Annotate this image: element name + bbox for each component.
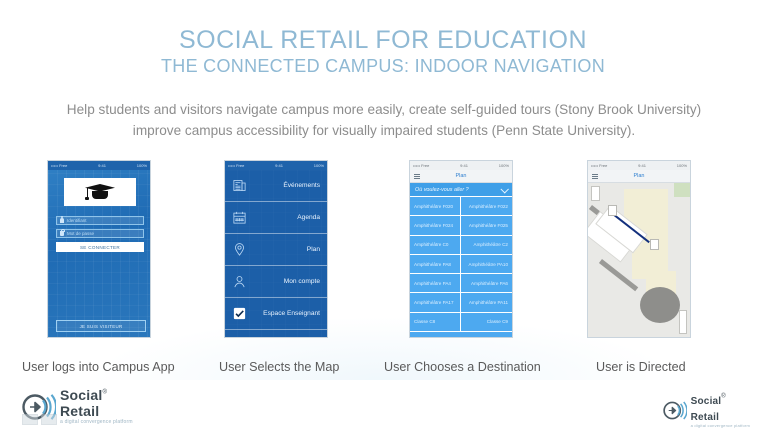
username-field[interactable]: Identifiant	[56, 216, 144, 225]
logo-line2: Retail	[691, 412, 719, 423]
destination-cell[interactable]: Amphithéâtre PA4	[410, 274, 461, 293]
status-carrier: ••••• Free	[228, 163, 244, 168]
menu-item-label: Agenda	[297, 214, 320, 221]
logo-tagline: a digital convergence platform	[691, 424, 750, 428]
status-time: 9:41	[98, 163, 106, 168]
password-field[interactable]: Mot de passe	[56, 229, 144, 238]
destination-cell[interactable]: Classe C8	[410, 313, 461, 332]
menu-item-evenements[interactable]: Événements	[225, 170, 327, 202]
status-carrier: ••••• Free	[591, 163, 607, 168]
status-carrier: ••••• Free	[413, 163, 429, 168]
chevron-down-icon	[500, 185, 508, 193]
status-time: 9:41	[460, 163, 468, 168]
nav-title: Plan	[633, 173, 644, 179]
logo-line1: Social	[691, 396, 722, 407]
page-title: SOCIAL RETAIL FOR EDUCATION	[0, 26, 766, 55]
destination-cell[interactable]: Amphithéâtre PA17	[410, 293, 461, 312]
phone-mockup-menu: ••••• Free 9:41 100% Événements	[224, 160, 328, 338]
menu-item-label: Espace Enseignant	[263, 310, 320, 317]
destination-screen: Où voulez-vous aller ? Amphithéâtre F020…	[410, 183, 512, 338]
lock-icon	[60, 231, 64, 236]
login-button[interactable]: SE CONNECTER	[56, 242, 144, 252]
destination-grid: Amphithéâtre F020 Amphithéâtre F022 Amph…	[410, 197, 512, 332]
campus-map[interactable]	[588, 183, 690, 338]
user-icon	[60, 218, 64, 223]
logo-registered: ®	[102, 390, 106, 396]
nav-bar: Plan	[588, 170, 690, 183]
logo-tagline: a digital convergence platform	[60, 420, 133, 425]
destination-cell[interactable]: Amphithéâtre PA11	[461, 293, 512, 312]
menu-item-plan[interactable]: Plan	[225, 234, 327, 266]
status-bar: ••••• Free 9:41 100%	[410, 161, 512, 170]
caption-destination: User Chooses a Destination	[384, 360, 541, 374]
caption-login: User logs into Campus App	[22, 360, 175, 374]
status-time: 9:41	[275, 163, 283, 168]
dropdown-label: Où voulez-vous aller ?	[415, 187, 469, 193]
map-screen: Démarrer la navigation	[588, 183, 690, 338]
destination-cell[interactable]: Amphithéâtre C2	[461, 236, 512, 255]
footer-decoration	[22, 414, 57, 425]
logo-wordmark: Social® Retail a digital convergence pla…	[60, 388, 133, 425]
map-marker-start[interactable]	[608, 205, 617, 216]
calendar-icon	[232, 210, 247, 225]
destination-cell[interactable]: Amphithéâtre F024	[410, 216, 461, 235]
logo-registered: ®	[721, 394, 725, 400]
menu-item-agenda[interactable]: Agenda	[225, 202, 327, 234]
map-pin-icon	[232, 242, 247, 257]
destination-cell[interactable]: Amphithéâtre F020	[410, 197, 461, 216]
status-battery: 100%	[677, 163, 687, 168]
destination-cell[interactable]: Amphithéâtre PA6	[461, 274, 512, 293]
menu-item-espace-enseignant[interactable]: Espace Enseignant	[225, 298, 327, 330]
destination-cell[interactable]: Amphithéâtre PA8	[410, 255, 461, 274]
status-battery: 100%	[499, 163, 509, 168]
hamburger-icon[interactable]	[414, 174, 420, 179]
intro-paragraph: Help students and visitors navigate camp…	[56, 99, 712, 141]
hamburger-icon[interactable]	[592, 174, 598, 179]
destination-cell[interactable]: Amphithéâtre C0	[410, 236, 461, 255]
map-green-area	[674, 183, 690, 197]
menu-item-label: Mon compte	[284, 278, 320, 285]
visitor-button[interactable]: JE SUIS VISITEUR	[56, 320, 146, 332]
menu-item-label: Événements	[283, 182, 320, 189]
destination-cell[interactable]: Classe C9	[461, 313, 512, 332]
logo-social-retail-right: Social® Retail a digital convergence pla…	[663, 392, 750, 428]
footer-icon	[41, 414, 57, 425]
status-battery: 100%	[314, 163, 324, 168]
destination-dropdown[interactable]: Où voulez-vous aller ?	[410, 183, 512, 197]
caption-menu: User Selects the Map	[219, 360, 339, 374]
username-placeholder: Identifiant	[67, 218, 87, 223]
destination-cell[interactable]: Amphithéâtre F022	[461, 197, 512, 216]
status-bar: ••••• Free 9:41 100%	[225, 161, 327, 170]
phone-mockup-login: ••••• Free 9:41 100% Identifiant Mot de …	[47, 160, 151, 338]
footer-icon	[22, 414, 38, 425]
logo-line1: Social	[60, 387, 102, 403]
checkbox-checked-icon	[232, 306, 247, 321]
nav-bar: Plan	[410, 170, 512, 183]
caption-directed: User is Directed	[596, 360, 686, 374]
map-zoom-controls[interactable]	[591, 186, 600, 201]
phone-mockup-map: ••••• Free 9:41 100% Plan	[587, 160, 691, 338]
app-logo	[64, 178, 136, 206]
logo-wordmark: Social® Retail a digital convergence pla…	[691, 392, 750, 428]
nav-title: Plan	[455, 173, 466, 179]
map-floor-selector[interactable]	[679, 310, 687, 334]
status-bar: ••••• Free 9:41 100%	[588, 161, 690, 170]
menu-item-mon-compte[interactable]: Mon compte	[225, 266, 327, 298]
status-carrier: ••••• Free	[51, 163, 67, 168]
status-bar: ••••• Free 9:41 100%	[48, 161, 150, 170]
status-battery: 100%	[137, 163, 147, 168]
user-icon	[232, 274, 247, 289]
login-screen: Identifiant Mot de passe SE CONNECTER JE…	[48, 170, 150, 338]
social-retail-wave-icon	[663, 400, 687, 421]
logo-line2: Retail	[60, 403, 99, 419]
news-icon	[232, 178, 247, 193]
destination-cell[interactable]: Amphithéâtre F025	[461, 216, 512, 235]
password-placeholder: Mot de passe	[67, 231, 94, 236]
graduation-cap-icon	[85, 184, 115, 200]
destination-cell[interactable]: Amphithéâtre PA10	[461, 255, 512, 274]
status-time: 9:41	[638, 163, 646, 168]
map-marker-end[interactable]	[650, 239, 659, 250]
page-subtitle: THE CONNECTED CAMPUS: INDOOR NAVIGATION	[0, 56, 766, 77]
phone-mockup-destination: ••••• Free 9:41 100% Plan Où voulez-vous…	[409, 160, 513, 338]
map-dark-area	[640, 287, 680, 323]
menu-item-label: Plan	[307, 246, 320, 253]
menu-screen: Événements Agenda	[225, 170, 327, 338]
slide: SOCIAL RETAIL FOR EDUCATION THE CONNECTE…	[0, 0, 766, 428]
